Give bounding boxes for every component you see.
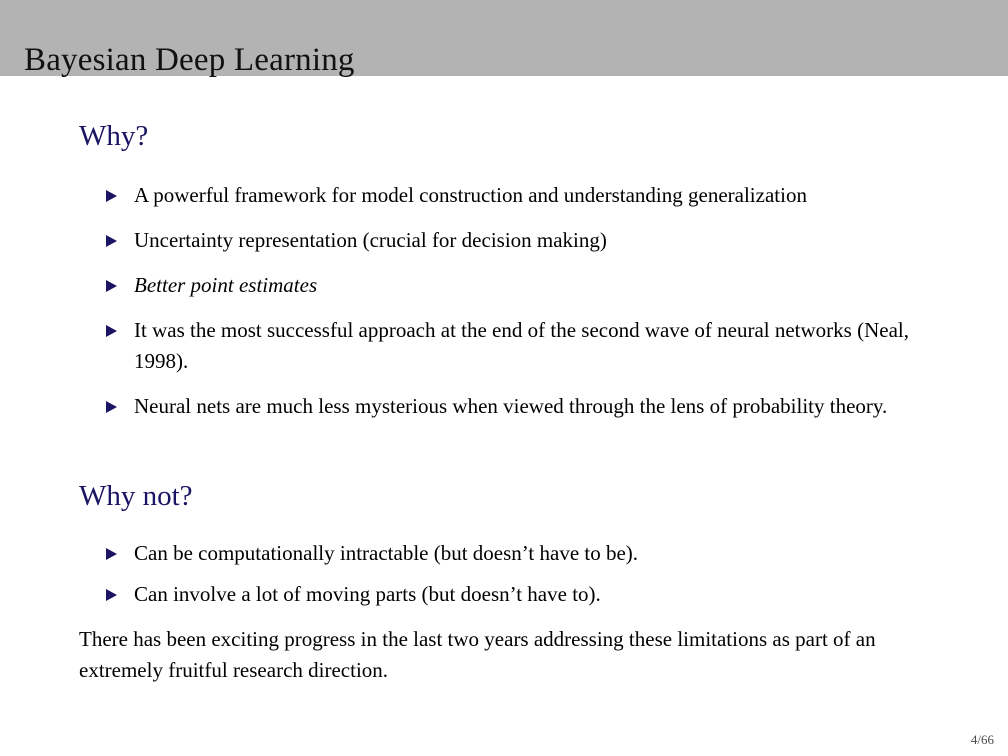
section-heading-why: Why? <box>79 119 148 153</box>
list-item-label: Neural nets are much less mysterious whe… <box>134 391 946 422</box>
bullet-list-why: A powerful framework for model construct… <box>106 180 946 436</box>
bullet-list-why-not: Can be computationally intractable (but … <box>106 538 946 620</box>
slide-title-bar: Bayesian Deep Learning <box>0 0 1008 76</box>
right-triangle-icon <box>106 280 117 292</box>
list-item: It was the most successful approach at t… <box>106 315 946 377</box>
page-number: 4/66 <box>971 732 994 748</box>
list-item-label: Can involve a lot of moving parts (but d… <box>134 579 946 610</box>
right-triangle-icon <box>106 325 117 337</box>
closing-paragraph: There has been exciting progress in the … <box>79 624 939 686</box>
list-item-label: Better point estimates <box>134 270 946 301</box>
list-item-label: A powerful framework for model construct… <box>134 180 946 211</box>
list-item: Can involve a lot of moving parts (but d… <box>106 579 946 610</box>
list-item: Uncertainty representation (crucial for … <box>106 225 946 256</box>
list-item: A powerful framework for model construct… <box>106 180 946 211</box>
page-title: Bayesian Deep Learning <box>24 40 355 80</box>
slide: Bayesian Deep Learning Why? A powerful f… <box>0 0 1008 756</box>
right-triangle-icon <box>106 589 117 601</box>
right-triangle-icon <box>106 190 117 202</box>
list-item: Better point estimates <box>106 270 946 301</box>
slide-body: Why? A powerful framework for model cons… <box>0 76 1008 756</box>
list-item-label: Uncertainty representation (crucial for … <box>134 225 946 256</box>
list-item: Neural nets are much less mysterious whe… <box>106 391 946 422</box>
section-heading-why-not: Why not? <box>79 479 193 513</box>
list-item: Can be computationally intractable (but … <box>106 538 946 569</box>
list-item-label: Can be computationally intractable (but … <box>134 538 946 569</box>
right-triangle-icon <box>106 401 117 413</box>
list-item-label: It was the most successful approach at t… <box>134 315 946 377</box>
right-triangle-icon <box>106 235 117 247</box>
right-triangle-icon <box>106 548 117 560</box>
